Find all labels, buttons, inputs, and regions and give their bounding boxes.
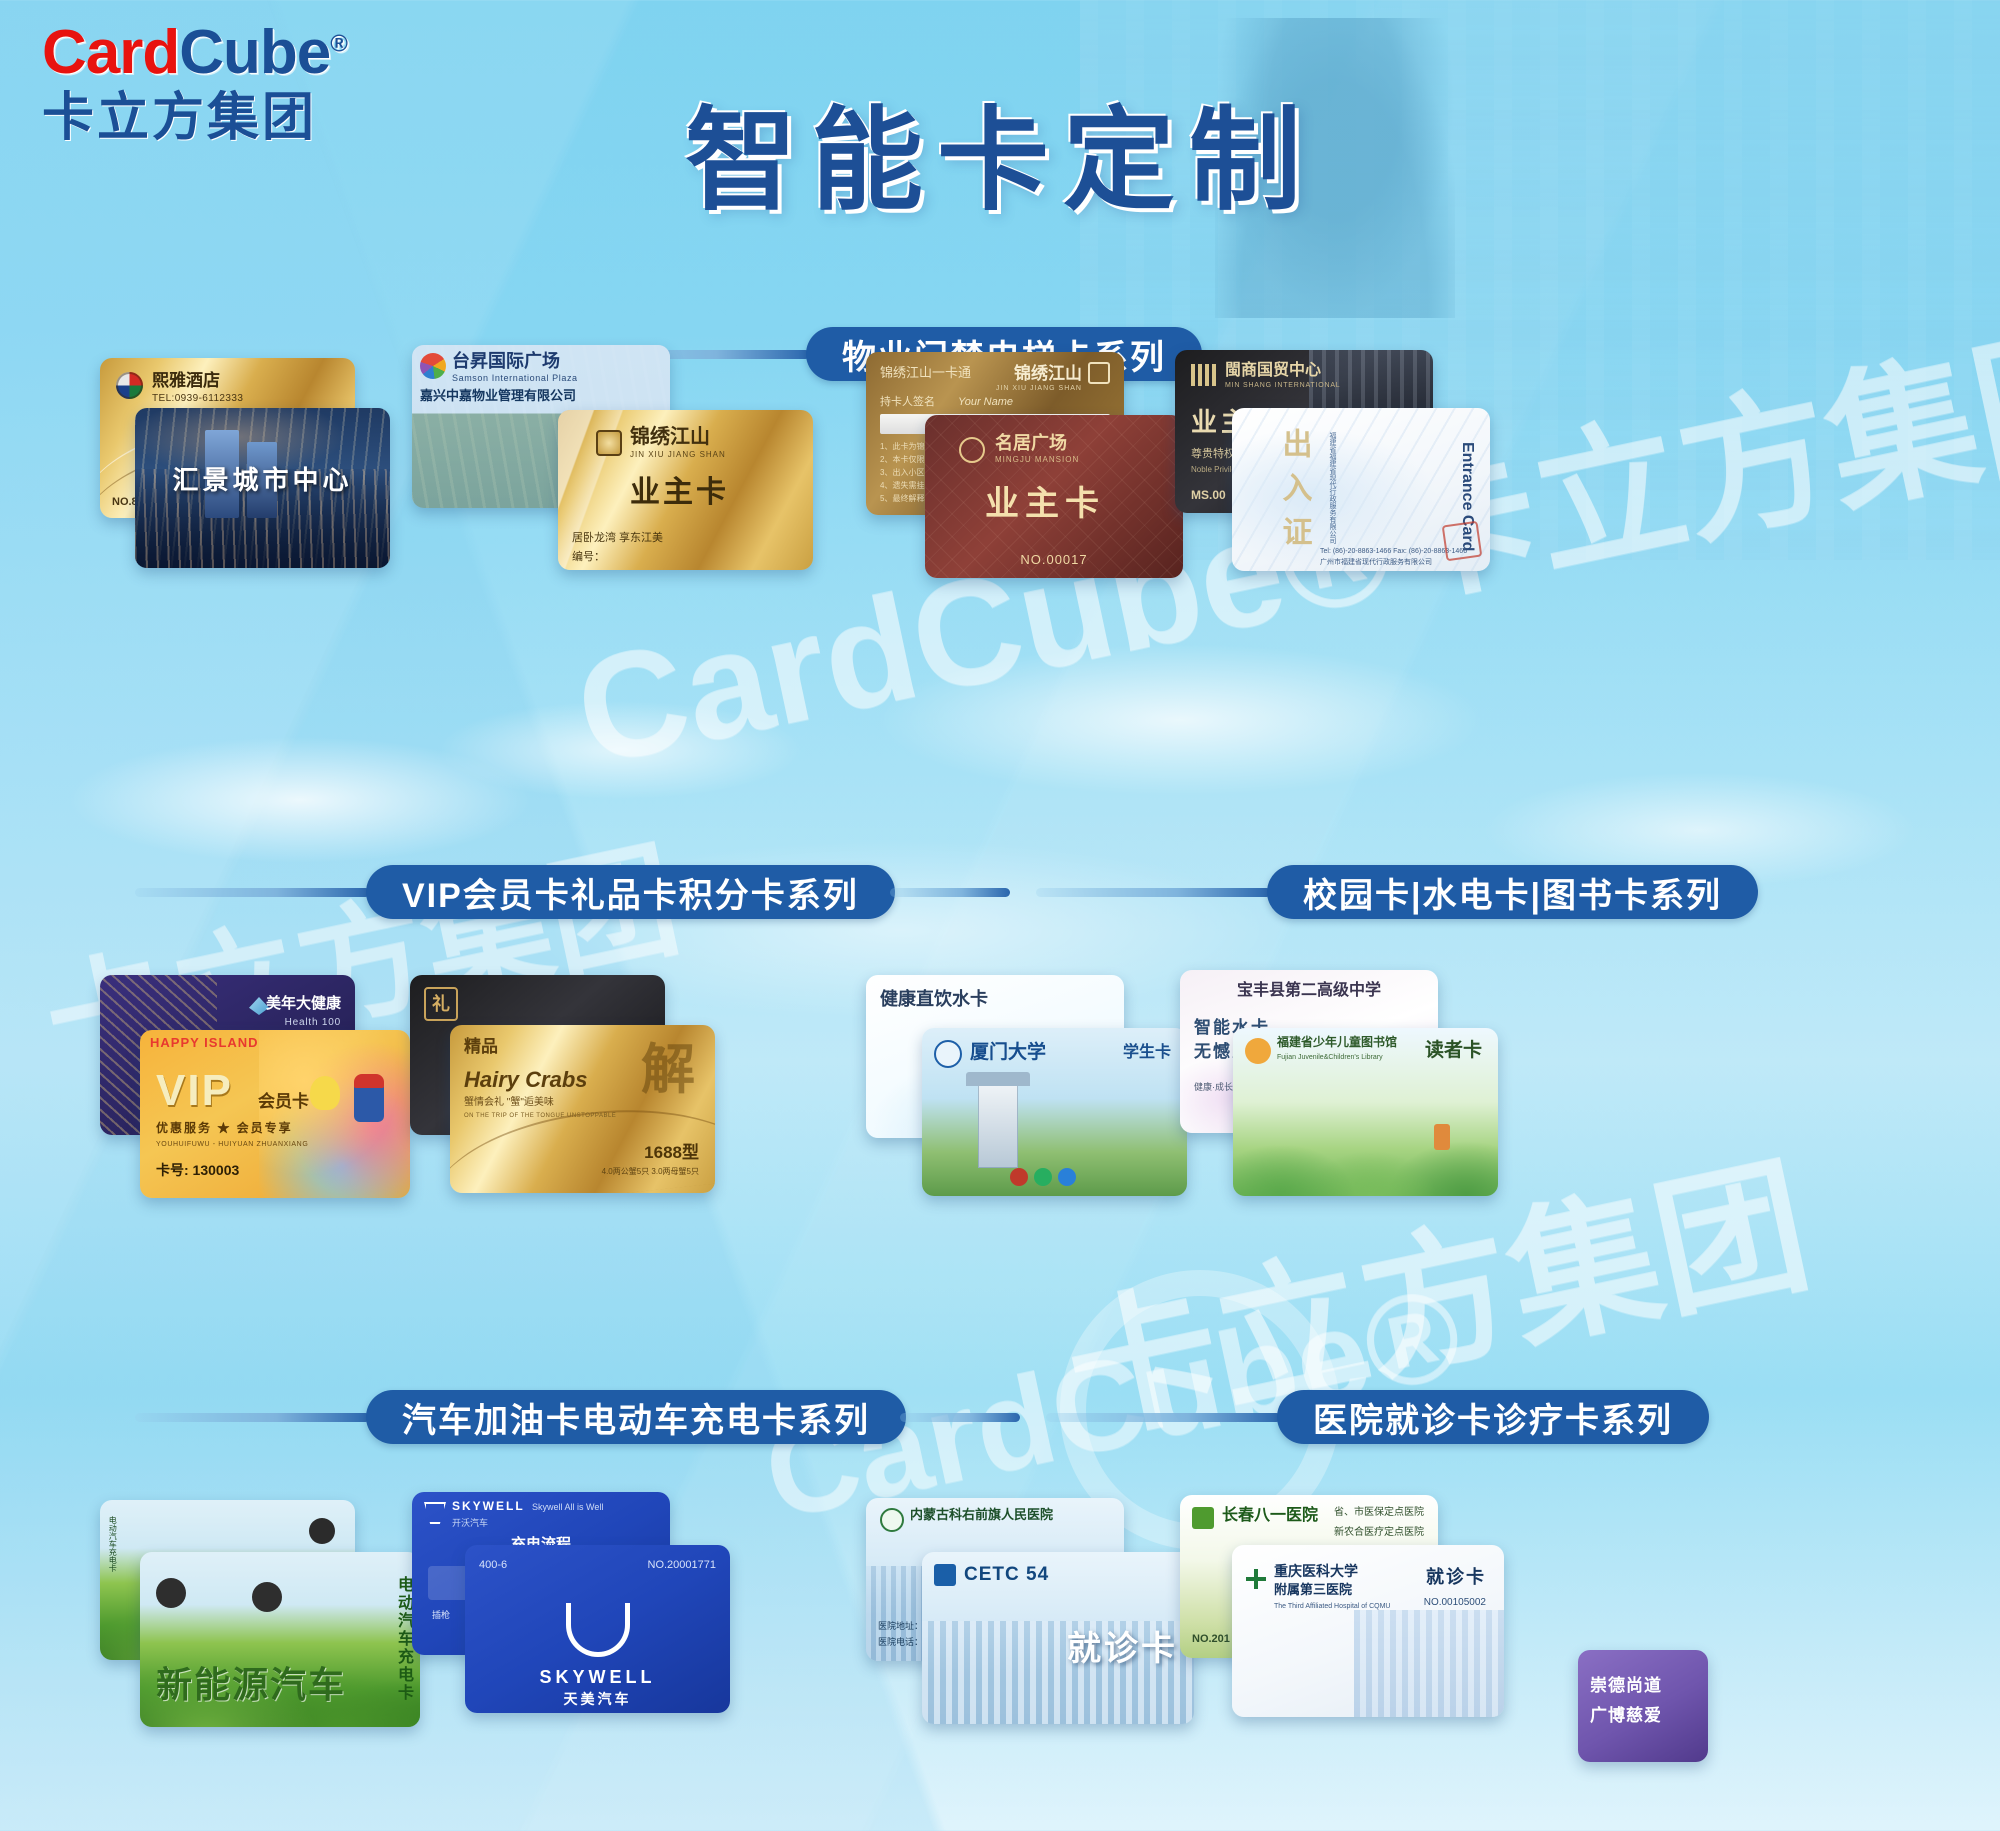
skywell-logo-text-cn: 天美汽车: [465, 1691, 730, 1707]
health-100-brand-cn: 美年大健康: [266, 995, 341, 1012]
vip-slogan-pinyin: YOUHUIFUWU - HUIYUAN ZHUANXIANG: [156, 1141, 308, 1149]
card-mingju-mansion: 名居广场 MINGJU MANSION 业主卡 NO.00017: [925, 415, 1183, 578]
minshang-privilege-cn: 尊贵特权: [1191, 448, 1235, 461]
card-entrance: 出入证 Entrance Card 福建省福建省现代行政服务有限公司 Tel: …: [1232, 408, 1490, 571]
xmu-roof-icon: [966, 1072, 1030, 1086]
hairy-crabs-slogan-en: ON THE TRIP OF THE TONGUE UNSTOPPABLE: [464, 1113, 616, 1120]
vip-card-number: 卡号: 130003: [156, 1162, 239, 1178]
jinxiu-owner-brand-en: JIN XIU JIANG SHAN: [630, 450, 726, 459]
xiya-hotel-logo-icon: [116, 372, 143, 399]
badge-green-icon: [1034, 1168, 1052, 1186]
changchun-note-2: 新农合医疗定点医院: [1334, 1527, 1424, 1539]
section-title-campus-utility: 校园卡|水电卡|图书卡系列: [1267, 865, 1758, 919]
medical-cross-icon: [1246, 1569, 1266, 1589]
skywell-brand-cn: 开沃汽车: [452, 1518, 488, 1528]
cetc-name: CETC 54: [964, 1564, 1049, 1586]
huijing-city-center-title: 汇景城市中心: [135, 466, 390, 496]
cetc-logo-icon: [934, 1564, 956, 1586]
minshang-brand-cn: 閩商国贸中心: [1225, 362, 1321, 380]
card-skywell-main: 400-6 NO.20001771 SKYWELL 天美汽车: [465, 1545, 730, 1713]
skywell-big-logo-icon: [566, 1603, 630, 1657]
cqmu-university-name: 重庆医科大学: [1274, 1563, 1358, 1579]
jinxiu-logo-icon: [596, 430, 622, 456]
skywell-logo-icon: [424, 1502, 446, 1524]
card-chongde-shangdao: 崇德尚道 广博慈爱: [1578, 1650, 1708, 1762]
cqmu-hospital-name-en: The Third Affiliated Hospital of CQMU: [1274, 1603, 1390, 1611]
card-fujian-library: 福建省少年儿童图书馆 Fujian Juvenile&Children's Li…: [1233, 1028, 1498, 1196]
card-vip-member: HAPPY ISLAND VIP 会员卡 优惠服务 ★ 会员专享 YOUHUIF…: [140, 1030, 410, 1198]
page-title: 智能卡定制: [0, 70, 2000, 232]
jinxiu-signature-label: 持卡人签名: [880, 396, 935, 409]
minshang-brand-en: MIN SHANG INTERNATIONAL: [1225, 382, 1341, 390]
baofeng-slogan: 健康·成长: [1194, 1082, 1233, 1092]
vip-cartoon-art: [259, 1030, 410, 1198]
section-banner-hospital: 医院就诊卡诊疗卡系列: [900, 1390, 1709, 1444]
cartoon-trainer-icon: [354, 1082, 384, 1122]
new-energy-title: 新能源汽车: [156, 1664, 346, 1705]
banner-rule-short: [900, 1413, 1020, 1422]
card-hairy-crabs: 精品 Hairy Crabs 蟹情会礼 "蟹"逅美味 ON THE TRIP O…: [450, 1025, 715, 1193]
banner-rule: [1036, 888, 1271, 897]
ev-charging-card-label: 电动汽车充电卡: [394, 1576, 412, 1716]
drinking-water-title: 健康直饮水卡: [880, 989, 988, 1010]
library-name-cn: 福建省少年儿童图书馆: [1277, 1036, 1397, 1050]
xmu-emblem-icon: [934, 1040, 962, 1068]
card-cqmu-third-hospital: 重庆医科大学 附属第三医院 The Third Affiliated Hospi…: [1232, 1545, 1504, 1717]
cetc-card-label: 就诊卡: [1067, 1630, 1178, 1669]
jinxiu-allinone-logo-icon: [1088, 362, 1110, 384]
xmu-card-label: 学生卡: [1123, 1044, 1171, 1062]
skywell-brand: SKYWELL: [452, 1500, 525, 1514]
horqin-phone-label: 医院电话：8: [878, 1637, 928, 1647]
cartoon-pikachu-icon: [310, 1076, 340, 1110]
library-name-en: Fujian Juvenile&Children's Library: [1277, 1054, 1383, 1062]
hairy-crabs-seal-char: 解: [641, 1039, 695, 1101]
section-title-vip-member: VIP会员卡礼品卡积分卡系列: [366, 865, 895, 919]
baofeng-school-name: 宝丰县第二高级中学: [1180, 982, 1438, 1000]
changchun-note-1: 省、市医保定点医院: [1334, 1507, 1424, 1519]
badge-blue-icon: [1058, 1168, 1076, 1186]
section-title-hospital: 医院就诊卡诊疗卡系列: [1277, 1390, 1709, 1444]
ev-wheels-icon: [156, 1578, 186, 1608]
chongde-line-2: 广博慈爱: [1590, 1706, 1662, 1726]
mingju-brand-cn: 名居广场: [995, 433, 1067, 454]
skywell-step-1: 插枪: [432, 1610, 450, 1620]
banner-rule: [135, 888, 370, 897]
gift-seal-icon: 礼: [424, 987, 458, 1021]
section-banner-campus-utility: 校园卡|水电卡|图书卡系列: [890, 865, 1758, 919]
horqin-hospital-name: 内蒙古科右前旗人民医院: [910, 1508, 1053, 1523]
card-jinxiu-owner: 锦绣江山 JIN XIU JIANG SHAN 业主卡 居卧龙湾 享东江美 编号…: [558, 410, 813, 570]
health-100-brand-en: Health 100: [285, 1017, 341, 1029]
skywell-tagline: Skywell All is Well: [532, 1502, 603, 1512]
gift-label: 礼: [432, 994, 450, 1015]
banner-rule: [1046, 1413, 1281, 1422]
vip-label: VIP: [156, 1066, 233, 1117]
chongde-line-1: 崇德尚道: [1590, 1676, 1662, 1696]
card-new-energy-charging: 新能源汽车 电动汽车充电卡: [140, 1552, 420, 1727]
car-wheels-icon: [309, 1518, 335, 1544]
library-logo-icon: [1245, 1038, 1271, 1064]
vip-slogan-cn: 优惠服务 ★ 会员专享: [156, 1122, 293, 1136]
library-reader-card-label: 读者卡: [1425, 1040, 1482, 1062]
library-tree-icon: [1434, 1124, 1450, 1150]
skywell-hotline: 400-6: [479, 1559, 507, 1572]
new-energy-vertical-text: 电动汽车充电卡: [108, 1516, 117, 1636]
jinxiu-allinone-brand: 锦绣江山: [1014, 364, 1082, 384]
entrance-address: 广州市福建省现代行政服务有限公司: [1320, 559, 1432, 567]
badge-red-icon: [1010, 1168, 1028, 1186]
taisheng-plaza-name-cn: 台昇国际广场: [452, 351, 560, 372]
vip-member-label: 会员卡: [258, 1092, 309, 1112]
card-huijing-city-center: 汇景城市中心: [135, 408, 390, 568]
banner-rule-short: [890, 888, 1010, 897]
section-banner-fuel-charging: 汽车加油卡电动车充电卡系列: [135, 1390, 906, 1444]
entrance-seal-icon: [1442, 521, 1483, 562]
xiya-hotel-name: 煕雅酒店: [152, 371, 220, 391]
xmu-name: 厦门大学: [970, 1042, 1046, 1064]
xiya-hotel-tel: TEL:0939-6112333: [152, 393, 243, 405]
taisheng-logo-icon: [420, 353, 446, 379]
mingju-card-label: 业主卡: [985, 485, 1105, 524]
hairy-crabs-premium-label: 精品: [464, 1037, 498, 1057]
cqmu-card-number: NO.00105002: [1424, 1597, 1486, 1609]
changchun-logo-icon: [1192, 1507, 1214, 1529]
minshang-card-number: MS.00: [1191, 489, 1226, 503]
card-cetc54: CETC 54 就诊卡: [922, 1552, 1194, 1724]
jinxiu-signature-placeholder: Your Name: [958, 396, 1013, 409]
entrance-title-cn: 出入证: [1276, 428, 1311, 528]
minshang-logo-icon: [1191, 364, 1217, 386]
hairy-crabs-slogan-cn: 蟹情会礼 "蟹"逅美味: [464, 1097, 554, 1109]
hairy-crabs-spec: 4.0两公蟹5只 3.0两母蟹5只: [602, 1167, 699, 1176]
mingju-brand-en: MINGJU MANSION: [995, 455, 1079, 464]
jinxiu-allinone-brand-en: JIN XIU JIANG SHAN: [996, 385, 1082, 393]
section-title-fuel-charging: 汽车加油卡电动车充电卡系列: [366, 1390, 906, 1444]
taisheng-property-company: 嘉兴中嘉物业管理有限公司: [420, 389, 576, 404]
cartoon-cap-icon: [354, 1074, 384, 1088]
hairy-crabs-model: 1688型: [644, 1143, 699, 1163]
mingju-logo-icon: [959, 437, 985, 463]
jinxiu-owner-brand: 锦绣江山: [630, 426, 710, 449]
jinxiu-owner-slogan: 居卧龙湾 享东江美: [572, 532, 663, 545]
horqin-address-label: 医院地址：: [878, 1621, 923, 1631]
changchun-card-number: NO.201: [1192, 1633, 1230, 1646]
horqin-logo-icon: [880, 1508, 904, 1532]
jinxiu-owner-serial-label: 编号：: [572, 551, 605, 564]
cqmu-building-photo: [1354, 1610, 1504, 1717]
cqmu-hospital-name: 附属第三医院: [1274, 1583, 1352, 1598]
entrance-org: 福建省福建省现代行政服务有限公司: [1328, 432, 1336, 550]
library-hills-art: [1233, 1104, 1498, 1196]
card-xiamen-university: 厦门大学 学生卡: [922, 1028, 1187, 1196]
changchun-hospital-name: 长春八一医院: [1222, 1507, 1318, 1525]
skywell-card-number: NO.20001771: [648, 1559, 717, 1572]
cqmu-card-label: 就诊卡: [1426, 1567, 1486, 1588]
mingju-card-number: NO.00017: [925, 553, 1183, 568]
section-banner-vip-member: VIP会员卡礼品卡积分卡系列: [135, 865, 895, 919]
xmu-building-icon: [978, 1082, 1018, 1168]
taisheng-plaza-name-en: Samson International Plaza: [452, 373, 578, 383]
skywell-logo-text: SKYWELL: [465, 1667, 730, 1688]
hairy-crabs-title-en: Hairy Crabs: [464, 1067, 588, 1092]
jinxiu-allinone-title: 锦绣江山一卡通: [880, 366, 971, 381]
jinxiu-owner-card-label: 业主卡: [630, 476, 729, 511]
vip-happy-island: HAPPY ISLAND: [150, 1036, 259, 1051]
registered-mark-icon: ®: [330, 30, 347, 57]
banner-rule: [135, 1413, 370, 1422]
